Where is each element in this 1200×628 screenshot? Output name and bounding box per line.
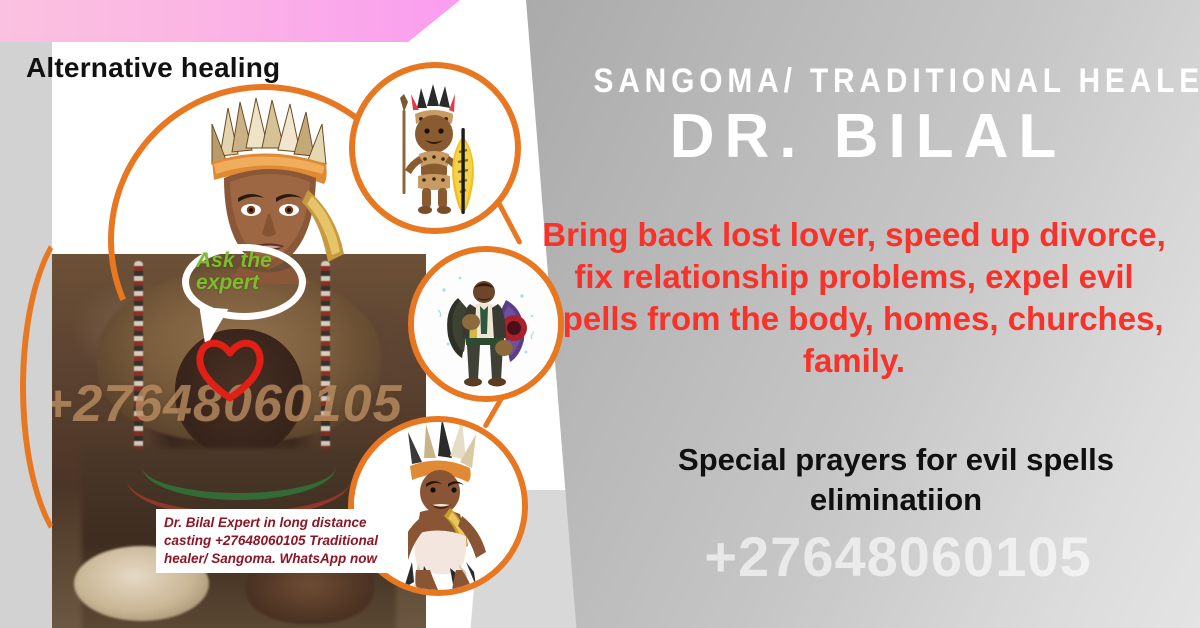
top-pink-banner [0, 0, 460, 42]
decorative-arc-left [20, 216, 152, 558]
phone-watermark: +27648060105 [600, 524, 1196, 589]
services-text: Bring back lost lover, speed up divorce,… [534, 214, 1174, 382]
zulu-warrior-illustration [355, 68, 515, 228]
circle-traditional-diviner [408, 246, 564, 402]
speech-bubble-text: Ask the expert [196, 250, 316, 294]
poster-canvas: Alternative healing +27648060105 [0, 0, 1200, 628]
circle-zulu-warrior [349, 62, 521, 234]
photo-caption-text: Dr. Bilal Expert in long distance castin… [164, 514, 402, 567]
kicker-text: SANGOMA/ TRADITIONAL HEALER [593, 62, 1142, 101]
prayers-text: Special prayers for evil spells eliminat… [600, 440, 1192, 521]
photo-caption-box: Dr. Bilal Expert in long distance castin… [156, 509, 408, 573]
photo-red-necklace [127, 441, 351, 518]
page-title: Alternative healing [26, 52, 280, 84]
red-heart-outline [193, 336, 267, 402]
doctor-name: DR. BILAL [556, 104, 1180, 169]
traditional-diviner-illustration [414, 252, 558, 396]
